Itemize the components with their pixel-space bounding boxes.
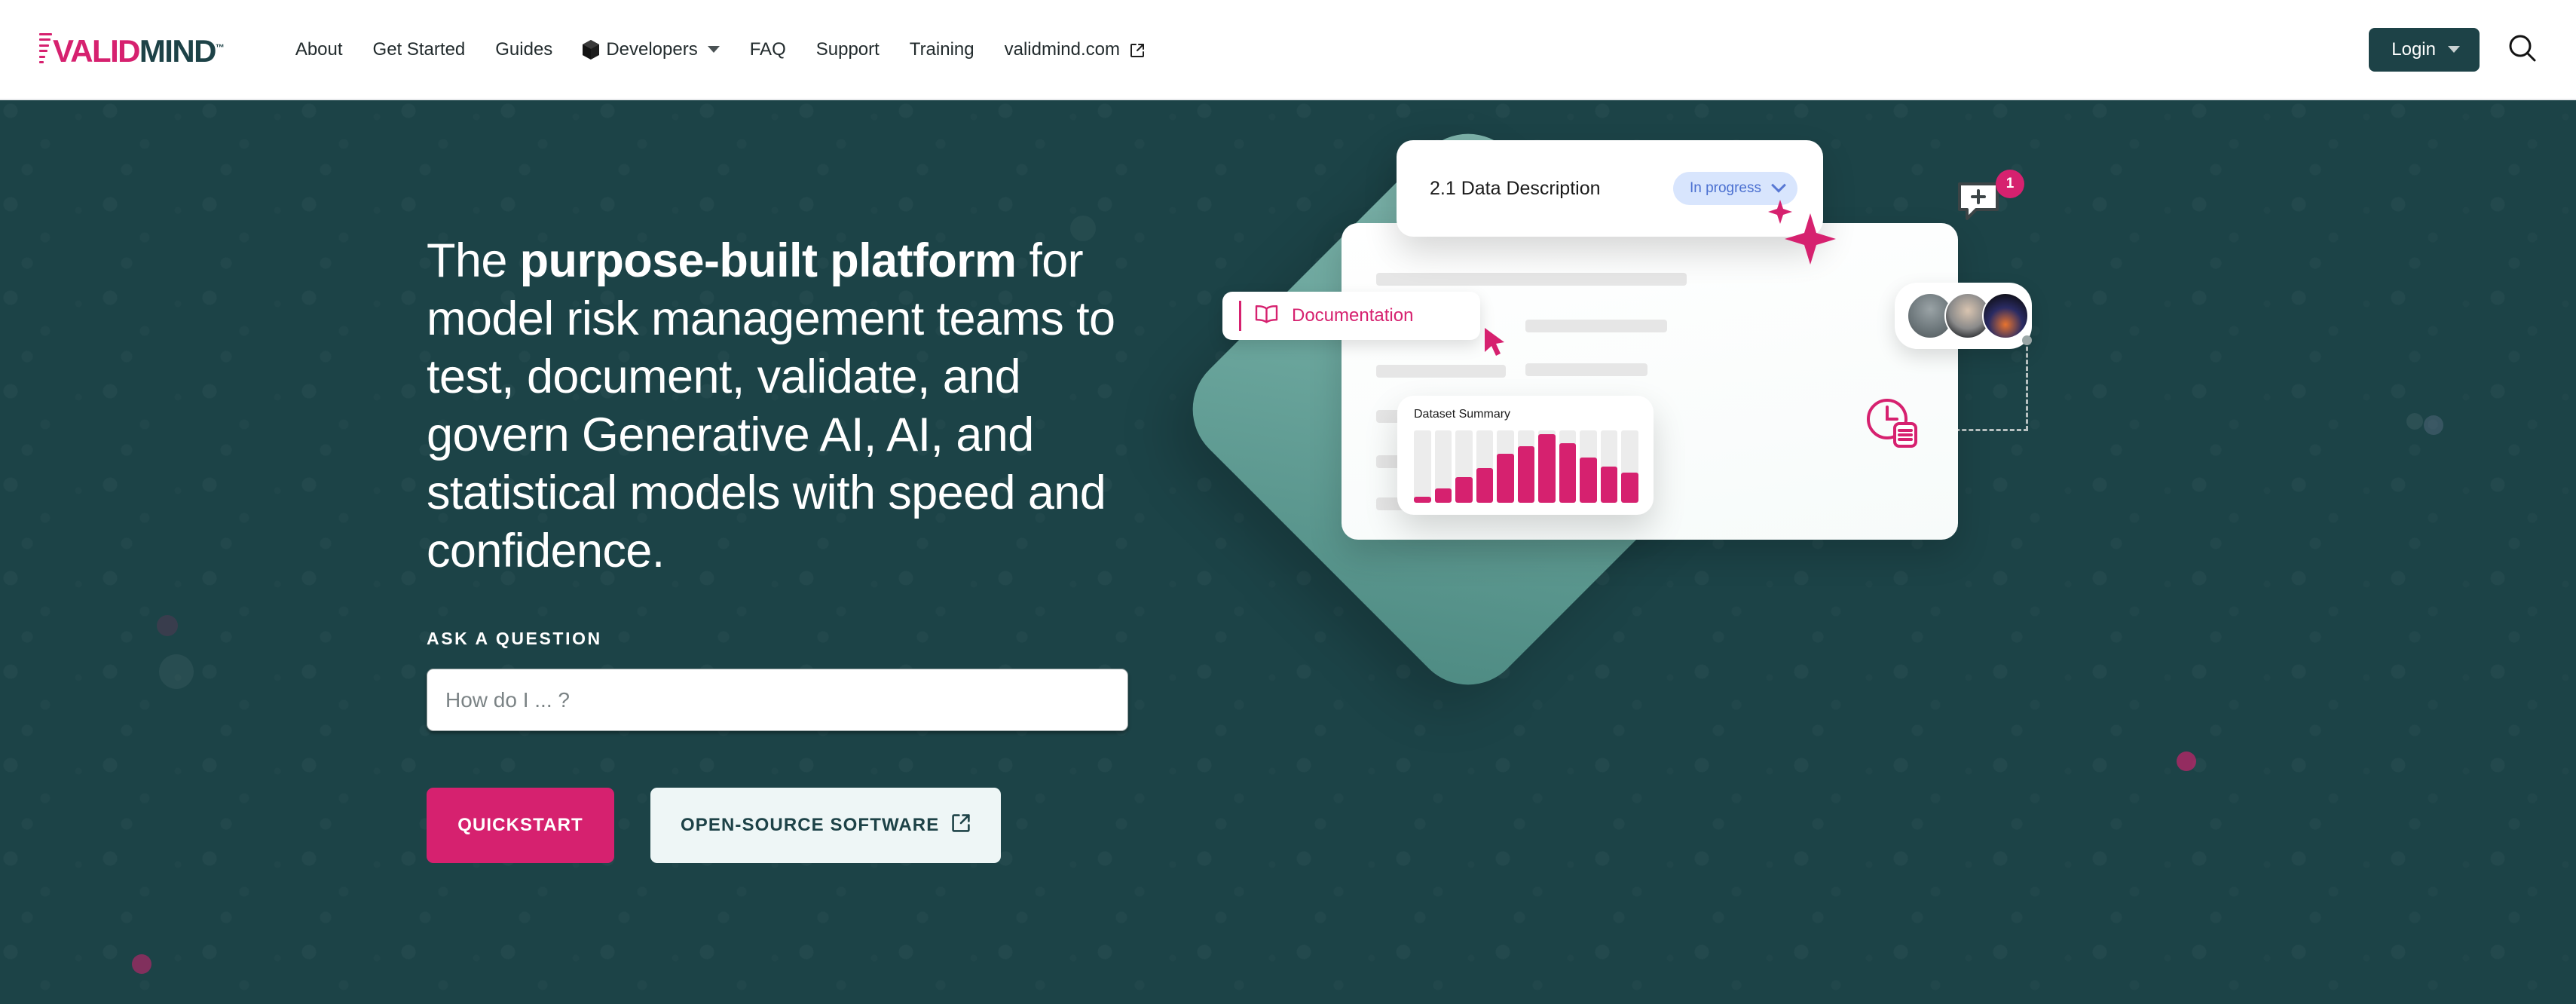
nav-item-support[interactable]: Support <box>801 32 895 68</box>
bar-fill <box>1559 443 1577 503</box>
nav-label-about: About <box>295 39 343 60</box>
skeleton-line <box>1525 363 1647 376</box>
headline-emphasis: purpose-built platform <box>520 234 1017 287</box>
status-badge-label: In progress <box>1690 180 1761 197</box>
skeleton-line <box>1525 320 1667 332</box>
bar-track <box>1621 430 1638 503</box>
data-description-card: 2.1 Data Description In progress <box>1397 140 1823 237</box>
bar-track <box>1538 430 1556 503</box>
card-title: 2.1 Data Description <box>1430 178 1601 200</box>
open-source-software-button[interactable]: OPEN-SOURCE SOFTWARE <box>650 788 1001 863</box>
documentation-tab[interactable]: Documentation <box>1222 292 1480 340</box>
bar-fill <box>1580 458 1597 503</box>
main-navigation: About Get Started Guides Developers FAQ … <box>280 32 2369 68</box>
bar-fill <box>1476 468 1494 503</box>
nav-item-faq[interactable]: FAQ <box>735 32 801 68</box>
nav-label-faq: FAQ <box>750 39 786 60</box>
chart-title: Dataset Summary <box>1414 408 1638 421</box>
bar-track <box>1414 430 1431 503</box>
external-link-icon <box>951 813 971 838</box>
nav-item-validmind-com[interactable]: validmind.com <box>990 32 1160 68</box>
cursor-icon <box>1483 326 1509 363</box>
nav-label-training: Training <box>910 39 974 60</box>
bar-track <box>1497 430 1514 503</box>
bar-fill <box>1497 454 1514 503</box>
bar-chart <box>1414 430 1638 503</box>
headline-part-1: The <box>427 234 520 287</box>
chevron-down-icon <box>2448 46 2460 53</box>
bar-fill <box>1435 488 1452 503</box>
bar-track <box>1455 430 1473 503</box>
nav-item-about[interactable]: About <box>280 32 358 68</box>
site-header: VALIDMIND™ About Get Started Guides Deve… <box>0 0 2576 100</box>
bar-fill <box>1621 473 1638 503</box>
comment-count-badge: 1 <box>1996 170 2024 198</box>
bar-fill <box>1414 497 1431 503</box>
dataset-summary-card: Dataset Summary <box>1397 396 1654 515</box>
ask-question-label: ASK A QUESTION <box>427 629 1180 649</box>
quickstart-button[interactable]: QUICKSTART <box>427 788 614 863</box>
nav-label-validmind-com: validmind.com <box>1005 39 1120 60</box>
quickstart-label: QUICKSTART <box>457 815 583 836</box>
logo-validmind[interactable]: VALIDMIND™ <box>39 32 225 67</box>
login-label: Login <box>2391 39 2436 60</box>
login-button[interactable]: Login <box>2369 28 2480 72</box>
nav-item-developers[interactable]: Developers <box>568 32 734 68</box>
avatar-group[interactable] <box>1895 283 2032 349</box>
documentation-tab-label: Documentation <box>1292 305 1413 326</box>
ask-question-input[interactable] <box>427 669 1128 731</box>
logo-trademark: ™ <box>216 42 225 53</box>
chevron-down-icon <box>708 46 720 53</box>
hero-illustration: 2.1 Data Description In progress Documen… <box>1180 100 2576 1004</box>
hero-section: The purpose-built platform for model ris… <box>0 100 2576 1004</box>
nav-label-developers: Developers <box>606 39 697 60</box>
bar-fill <box>1455 477 1473 503</box>
search-button[interactable] <box>2505 32 2540 67</box>
connector-joint <box>2022 335 2032 345</box>
bar-track <box>1559 430 1577 503</box>
bar-fill <box>1518 446 1535 503</box>
version-history-icon <box>1865 396 1920 453</box>
skeleton-line <box>1376 273 1687 286</box>
hero-content: The purpose-built platform for model ris… <box>427 100 1180 1004</box>
bar-track <box>1518 430 1535 503</box>
nav-label-support: Support <box>816 39 880 60</box>
bar-fill <box>1601 467 1618 503</box>
bar-track <box>1476 430 1494 503</box>
cube-icon <box>583 40 599 60</box>
nav-item-get-started[interactable]: Get Started <box>358 32 481 68</box>
open-source-label: OPEN-SOURCE SOFTWARE <box>681 815 939 836</box>
bar-track <box>1435 430 1452 503</box>
bar-fill <box>1538 434 1556 503</box>
nav-label-guides: Guides <box>495 39 552 60</box>
hero-cta-row: QUICKSTART OPEN-SOURCE SOFTWARE <box>427 788 1180 863</box>
header-actions: Login <box>2369 28 2540 72</box>
nav-item-training[interactable]: Training <box>895 32 990 68</box>
chevron-down-icon <box>1771 178 1786 193</box>
connector-line <box>2026 340 2028 430</box>
external-link-icon <box>1130 42 1145 57</box>
avatar <box>1982 292 2029 339</box>
nav-item-guides[interactable]: Guides <box>480 32 568 68</box>
skeleton-line <box>1376 365 1506 378</box>
bar-track <box>1601 430 1618 503</box>
hero-headline: The purpose-built platform for model ris… <box>427 232 1127 580</box>
active-indicator <box>1239 301 1241 331</box>
logo-text-mind: MIND <box>139 33 216 69</box>
bar-track <box>1580 430 1597 503</box>
nav-label-get-started: Get Started <box>373 39 466 60</box>
logo-stripes-icon <box>39 33 52 63</box>
search-icon <box>2506 32 2539 67</box>
logo-text-valid: VALID <box>53 33 139 69</box>
book-icon <box>1255 305 1278 328</box>
sparkle-icon <box>1761 197 1851 283</box>
